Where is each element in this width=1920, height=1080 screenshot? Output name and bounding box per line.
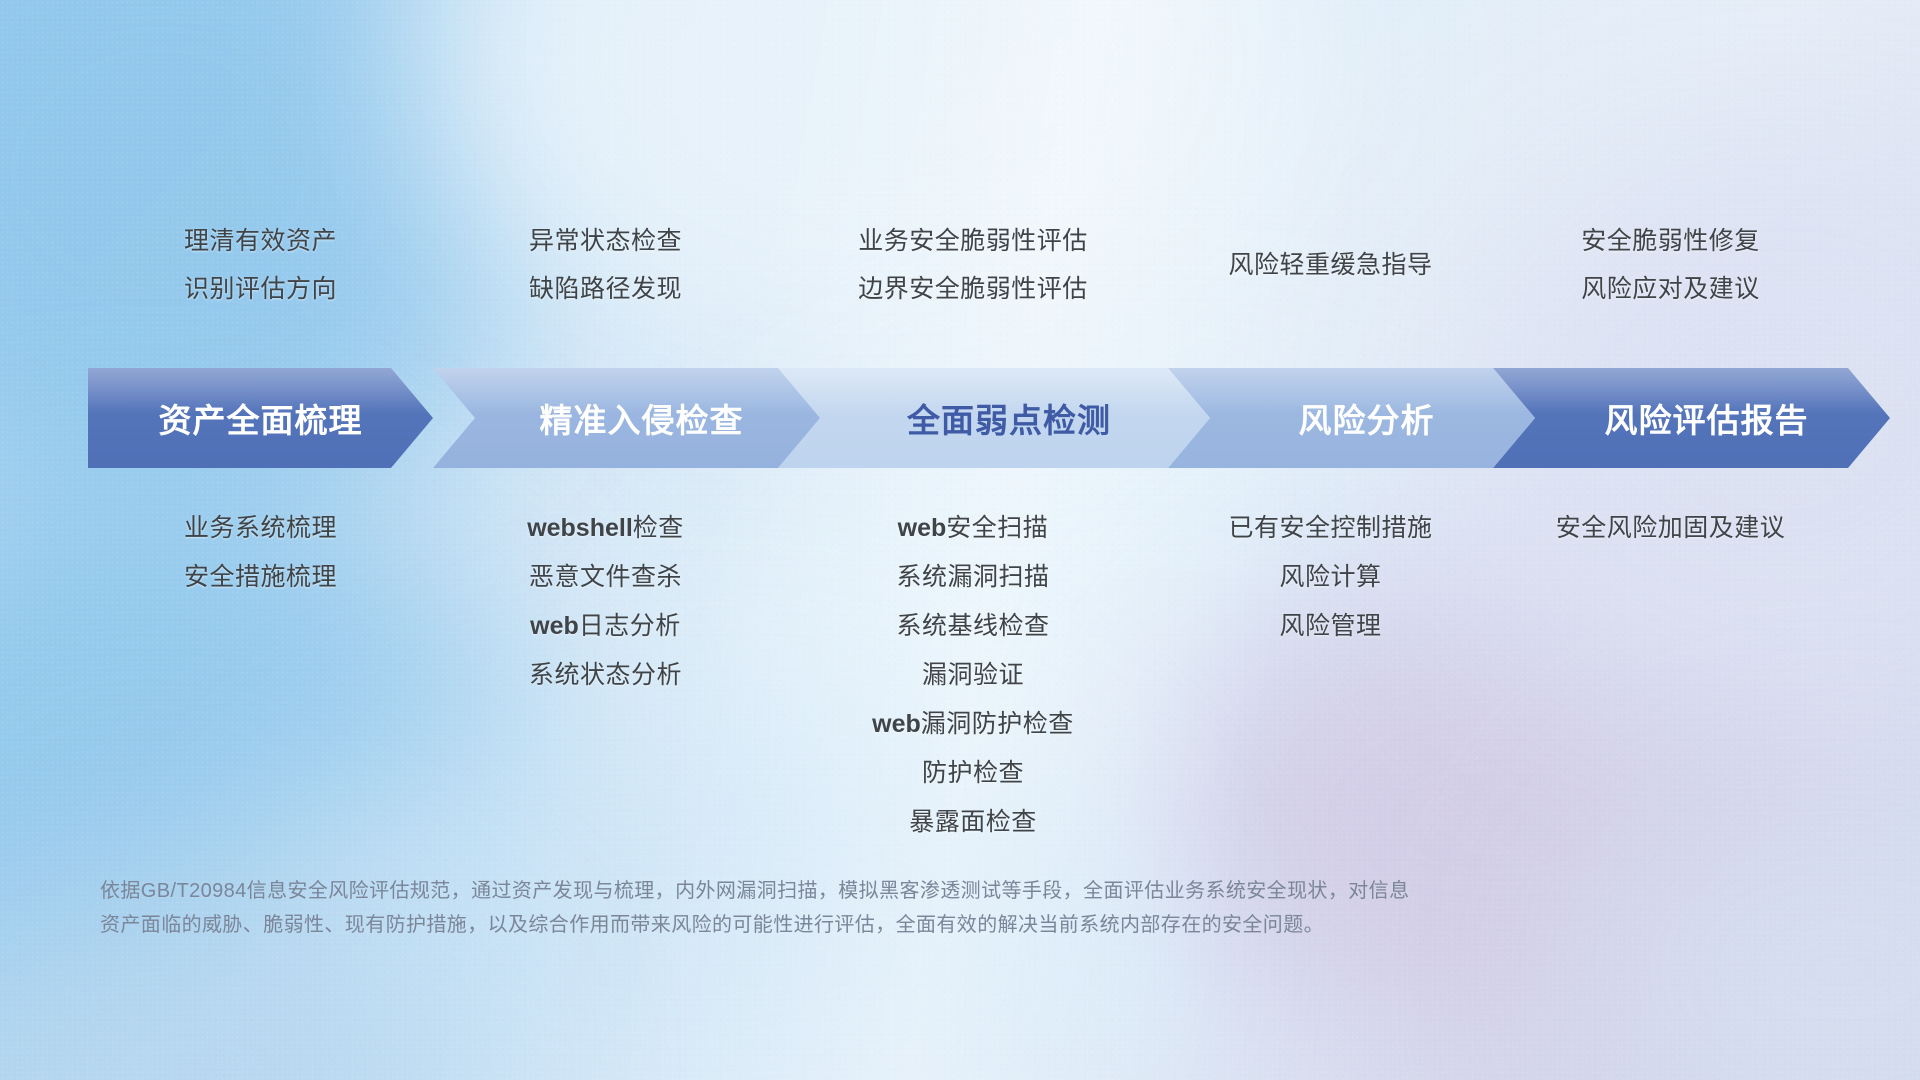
stage-bottom-label: 安全风险加固及建议 [1441,504,1901,553]
footer-line-1: 依据GB/T20984信息安全风险评估规范，通过资产发现与梳理，内外网漏洞扫描，… [100,874,1740,908]
stage-top-label: 缺陷路径发现 [396,265,816,313]
stage-top-labels-intrusion-check: 异常状态检查缺陷路径发现 [396,217,816,313]
stage-top-labels-risk-report: 安全脆弱性修复风险应对及建议 [1461,217,1881,313]
footer-description: 依据GB/T20984信息安全风险评估规范，通过资产发现与梳理，内外网漏洞扫描，… [100,874,1740,942]
stage-chevron-label: 精准入侵检查 [540,394,744,442]
stage-bottom-labels-risk-report: 安全风险加固及建议 [1441,504,1901,553]
stage-bottom-label: 暴露面检查 [743,798,1203,847]
stage-chevron-label: 资产全面梳理 [159,394,363,442]
footer-line-2: 资产面临的威胁、脆弱性、现有防护措施，以及综合作用而带来风险的可能性进行评估，全… [100,908,1740,942]
stage-bottom-label: 防护检查 [743,749,1203,798]
stage-top-label: 风险应对及建议 [1461,265,1881,313]
stage-bottom-label: web漏洞防护检查 [743,700,1203,749]
stage-chevron-label: 全面弱点检测 [907,394,1111,442]
stage-chevron-risk-analysis[interactable]: 风险分析 [1168,368,1535,468]
stage-bottom-label: 风险管理 [1101,602,1561,651]
stage-bottom-label: 漏洞验证 [743,651,1203,700]
stage-top-label: 异常状态检查 [396,217,816,265]
stage-top-label: 安全脆弱性修复 [1461,217,1881,265]
process-diagram: 理清有效资产识别评估方向 异常状态检查缺陷路径发现 业务安全脆弱性评估边界安全脆… [0,0,1920,1080]
stage-chevron-weakness-detection[interactable]: 全面弱点检测 [778,368,1210,468]
stage-chevron-intrusion-check[interactable]: 精准入侵检查 [433,368,820,468]
stage-chevron-label: 风险分析 [1299,394,1435,442]
stage-chevron-risk-report[interactable]: 风险评估报告 [1493,368,1890,468]
stage-chevron-label: 风险评估报告 [1605,394,1809,442]
stage-chevron-band: 资产全面梳理精准入侵检查全面弱点检测风险分析风险评估报告 [88,368,1848,468]
stage-chevron-asset-inventory[interactable]: 资产全面梳理 [88,368,433,468]
stage-bottom-label: 风险计算 [1101,553,1561,602]
